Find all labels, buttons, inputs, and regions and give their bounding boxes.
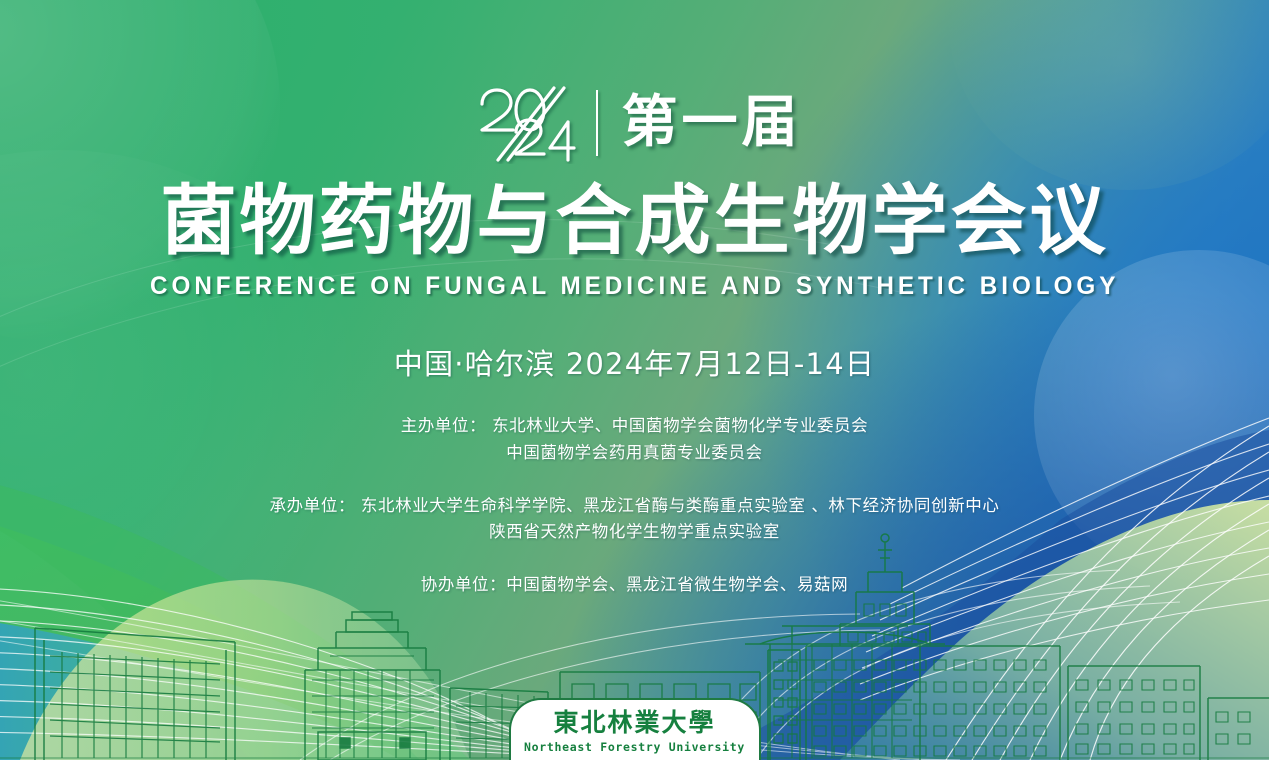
host-organizer-line-1: 主办单位： 东北林业大学、中国菌物学会菌物化学专业委员会 — [401, 413, 869, 440]
university-name-en: Northeast Forestry University — [524, 740, 745, 754]
undertaker-organizer-line-2: 陕西省天然产物化学生物学重点实验室 — [270, 519, 1000, 546]
coorganizer-block: 协办单位：中国菌物学会、黑龙江省微生物学会、易菇网 — [421, 572, 849, 599]
conference-poster: 第一届 菌物药物与合成生物学会议 CONFERENCE ON FUNGAL ME… — [0, 0, 1269, 760]
host-organizer-line-2: 中国菌物学会药用真菌专业委员会 — [401, 440, 869, 467]
university-name-cn: 東北林業大學 — [553, 710, 715, 735]
location-date-line: 中国·哈尔滨 2024年7月12日-14日 — [394, 341, 875, 383]
host-organizer-block: 主办单位： 东北林业大学、中国菌物学会菌物化学专业委员会 中国菌物学会药用真菌专… — [401, 413, 869, 466]
undertaker-organizer-line-1: 承办单位： 东北林业大学生命科学学院、黑龙江省酶与类酶重点实验室 、林下经济协同… — [270, 493, 1000, 520]
university-badge: 東北林業大學 Northeast Forestry University — [509, 698, 761, 760]
edition-label: 第一届 — [622, 95, 802, 151]
page-title: 菌物药物与合成生物学会议 — [161, 180, 1109, 262]
coorganizer-line-1: 协办单位：中国菌物学会、黑龙江省微生物学会、易菇网 — [421, 572, 849, 599]
undertaker-organizer-block: 承办单位： 东北林业大学生命科学学院、黑龙江省酶与类酶重点实验室 、林下经济协同… — [270, 493, 1000, 546]
title-logo-row: 第一届 — [468, 82, 802, 164]
page-subtitle-english: CONFERENCE ON FUNGAL MEDICINE AND SYNTHE… — [150, 272, 1119, 301]
stylized-2024-monogram-icon — [468, 82, 580, 164]
vertical-divider — [596, 90, 598, 156]
poster-content: 第一届 菌物药物与合成生物学会议 CONFERENCE ON FUNGAL ME… — [0, 0, 1269, 760]
